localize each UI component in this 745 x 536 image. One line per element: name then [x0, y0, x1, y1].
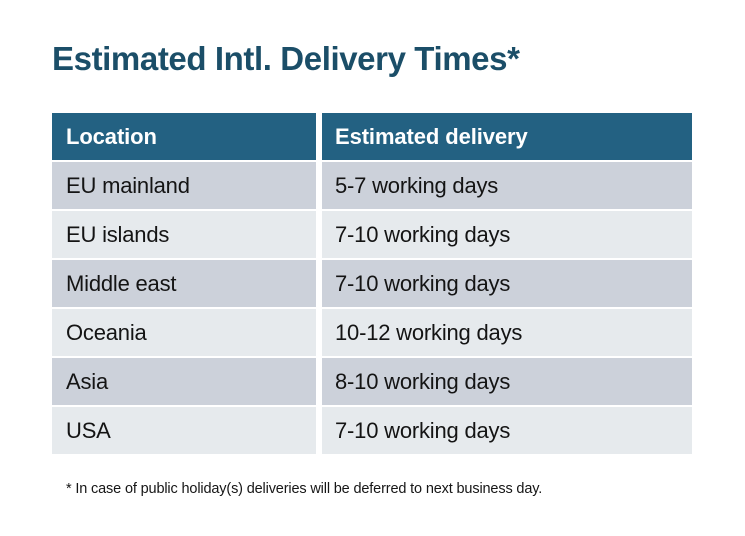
- table-row: Asia 8-10 working days: [52, 358, 692, 405]
- cell-location: Middle east: [52, 260, 316, 307]
- cell-estimated-delivery: 7-10 working days: [322, 407, 692, 454]
- column-header-estimated-delivery: Estimated delivery: [322, 113, 692, 160]
- table-header-row: Location Estimated delivery: [52, 113, 692, 160]
- table-row: EU islands 7-10 working days: [52, 211, 692, 258]
- cell-location: EU islands: [52, 211, 316, 258]
- delivery-times-table: Location Estimated delivery EU mainland …: [52, 113, 692, 456]
- cell-location: EU mainland: [52, 162, 316, 209]
- cell-estimated-delivery: 8-10 working days: [322, 358, 692, 405]
- table-footnote: * In case of public holiday(s) deliverie…: [66, 481, 542, 497]
- table-row: EU mainland 5-7 working days: [52, 162, 692, 209]
- cell-estimated-delivery: 5-7 working days: [322, 162, 692, 209]
- cell-location: Oceania: [52, 309, 316, 356]
- column-header-location: Location: [52, 113, 316, 160]
- table-row: Middle east 7-10 working days: [52, 260, 692, 307]
- table-row: USA 7-10 working days: [52, 407, 692, 454]
- cell-location: USA: [52, 407, 316, 454]
- cell-estimated-delivery: 7-10 working days: [322, 211, 692, 258]
- page-title: Estimated Intl. Delivery Times*: [52, 38, 520, 80]
- cell-estimated-delivery: 10-12 working days: [322, 309, 692, 356]
- cell-location: Asia: [52, 358, 316, 405]
- cell-estimated-delivery: 7-10 working days: [322, 260, 692, 307]
- table-row: Oceania 10-12 working days: [52, 309, 692, 356]
